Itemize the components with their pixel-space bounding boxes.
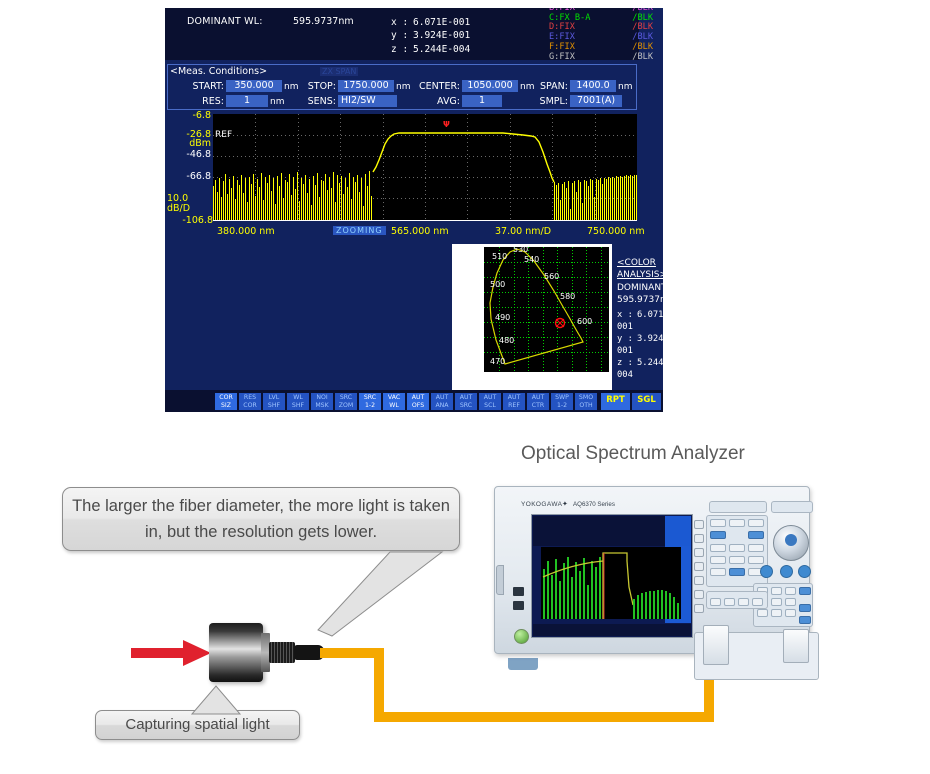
chroma-wl-580: 580: [560, 292, 575, 301]
optical-output-door[interactable]: [783, 629, 809, 663]
trace-mode-g: /BLK: [632, 53, 653, 63]
sens-label: SENS:: [292, 96, 336, 107]
avg-value[interactable]: 1: [462, 95, 502, 107]
y-axis-label-bottom: -106.8: [165, 215, 213, 226]
src-key-4[interactable]: [752, 598, 763, 606]
y-axis-label-3: -66.8: [167, 171, 211, 182]
spectrum-trace: [213, 114, 637, 220]
fiber-cable-segment-3: [374, 712, 714, 722]
smpl-value[interactable]: 7001(A): [570, 95, 622, 107]
status-vac-wl[interactable]: VACWL: [383, 393, 405, 410]
key-setup[interactable]: [710, 544, 726, 552]
status-src-zom[interactable]: SRCZOM: [335, 393, 357, 410]
cursor-down-button[interactable]: [780, 565, 793, 578]
span-unit: nm: [618, 82, 632, 92]
chroma-y-tick-1: 0.70: [452, 259, 482, 269]
status-aut-ofs[interactable]: AUTOFS: [407, 393, 429, 410]
chroma-y-tick-6: 0.20: [452, 334, 482, 344]
numkey-5[interactable]: [771, 598, 782, 606]
status-sgl-button[interactable]: SGL: [632, 393, 661, 410]
numkey-enter[interactable]: [799, 587, 811, 595]
chroma-y-tick-3: 0.50: [452, 289, 482, 299]
lcd-plot-area: [541, 547, 681, 619]
chroma-wl-490: 490: [495, 313, 510, 322]
status-aut-scl[interactable]: AUTSCL: [479, 393, 501, 410]
diagram-title: Optical Spectrum Analyzer: [521, 443, 745, 465]
trace-name-g: G:FIX: [549, 53, 575, 63]
key-print[interactable]: [729, 568, 745, 576]
status-rpt-button[interactable]: RPT: [601, 393, 630, 410]
fiber-connector-ferrule: [269, 642, 295, 663]
brand-mark-icon: ✦: [562, 500, 568, 508]
numkey-6[interactable]: [785, 598, 796, 606]
status-lvl-shf[interactable]: LVLSHF: [263, 393, 285, 410]
xyz-key-x: x :: [391, 16, 413, 29]
x-axis-line: [213, 220, 637, 221]
instrument-lcd: [531, 514, 693, 638]
ca-key-x: x :: [617, 309, 637, 321]
cursor-up-button[interactable]: [798, 565, 811, 578]
status-src-1-2[interactable]: SRC1-2: [359, 393, 381, 410]
source-panel[interactable]: [706, 591, 768, 609]
chroma-wl-480: 480: [499, 336, 514, 345]
x-axis-stop: 750.000 nm: [587, 226, 645, 237]
key-peak[interactable]: [748, 531, 764, 539]
key-sweep[interactable]: [710, 531, 726, 539]
chroma-y-tick-7: 0.10: [452, 349, 482, 359]
softkey-button-1[interactable]: [694, 520, 704, 529]
power-button[interactable]: [514, 629, 529, 644]
xyz-value-x: 6.071E-001: [413, 17, 470, 28]
xyz-value-z: 5.244E-004: [413, 44, 470, 55]
smpl-label: SMPL:: [520, 96, 568, 107]
x-axis-center: 565.000 nm: [391, 226, 449, 237]
chroma-x-tick-2: 0.30: [519, 375, 543, 385]
center-value[interactable]: 1050.000: [462, 80, 518, 92]
src-key-2[interactable]: [724, 598, 735, 606]
chroma-y-tick-4: 0.40: [452, 304, 482, 314]
ref-level-marker-text: REF: [215, 130, 232, 140]
chroma-wl-500: 500: [490, 280, 505, 289]
color-analysis-title: <COLOR ANALYSIS>: [617, 257, 663, 282]
key-marker[interactable]: [710, 556, 726, 564]
numkey-8[interactable]: [771, 587, 782, 595]
trace-status-list: B:FIX/BLK C:FX B-A/BLK D:FIX/BLK E:FIX/B…: [549, 8, 653, 62]
lcd-trace: [541, 547, 681, 619]
usb-port-upper[interactable]: [513, 587, 524, 596]
xyz-key-z: z :: [391, 43, 413, 56]
chroma-x-tick-4: 0.70: [577, 375, 601, 385]
src-key-1[interactable]: [710, 598, 721, 606]
softkey-button-3[interactable]: [694, 548, 704, 557]
panel-label-control: [771, 501, 813, 513]
avg-label: AVG:: [414, 96, 460, 107]
knob-minus-button[interactable]: [760, 565, 773, 578]
callout-tail: [300, 548, 470, 638]
instrument-chassis: YOKOGAWA ✦ AQ6370 Series: [494, 486, 810, 654]
status-res-cor[interactable]: RESCOR: [239, 393, 261, 410]
span-value[interactable]: 1400.0: [570, 80, 616, 92]
chroma-wl-470: 470: [490, 357, 505, 366]
key-display[interactable]: [729, 544, 745, 552]
numkey-2[interactable]: [771, 609, 782, 617]
status-aut-ref[interactable]: AUTREF: [503, 393, 525, 410]
numkey-clear[interactable]: [799, 616, 811, 624]
y-axis-label-top: -6.8: [167, 110, 211, 121]
fiber-cable-segment-2: [374, 648, 384, 722]
numkey-1[interactable]: [757, 609, 768, 617]
dominant-wl-value: 595.9737nm: [293, 16, 354, 27]
status-cor-siz[interactable]: CORSIZ: [215, 393, 237, 410]
y-axis-unit: dBm: [167, 138, 211, 149]
zoom-span-tag: ZX SPAN: [320, 67, 358, 76]
xyz-value-y: 3.924E-001: [413, 30, 470, 41]
incoming-light-arrow: [131, 638, 213, 668]
key-trace[interactable]: [748, 544, 764, 552]
xyz-readout: x :6.071E-001 y :3.924E-001 z :5.244E-00…: [391, 16, 470, 56]
instrument-foot-left: [508, 658, 538, 670]
status-smo-oth[interactable]: SMOOTH: [575, 393, 597, 410]
setup-keypad-panel[interactable]: [706, 515, 768, 587]
instrument-side-handle: [496, 565, 504, 595]
status-swp-1-2[interactable]: SWP1-2: [551, 393, 573, 410]
span-label: SPAN:: [524, 81, 568, 92]
x-axis-start: 380.000 nm: [217, 226, 275, 237]
softkey-button-5[interactable]: [694, 576, 704, 585]
meas-conditions-title: <Meas. Conditions>: [170, 66, 267, 77]
xyz-key-y: y :: [391, 29, 413, 42]
sens-value[interactable]: HI2/SW: [338, 95, 397, 107]
instrument-brand-label: YOKOGAWA: [521, 501, 562, 508]
chroma-wl-530: 530: [513, 245, 528, 254]
optical-input-door[interactable]: [703, 625, 729, 665]
knob-center-icon: [785, 534, 797, 546]
collimator-lens-body: [209, 623, 263, 682]
chroma-wl-540: 540: [524, 255, 539, 264]
softkey-button-4[interactable]: [694, 562, 704, 571]
ca-key-z: z :: [617, 357, 637, 369]
status-aut-ctr[interactable]: AUTCTR: [527, 393, 549, 410]
res-value[interactable]: 1: [226, 95, 268, 107]
res-unit: nm: [270, 97, 284, 107]
color-analysis-dominant-label: DOMINANT WL:: [617, 282, 663, 294]
explanation-callout: The larger the fiber diameter, the more …: [62, 487, 460, 551]
key-span[interactable]: [729, 519, 745, 527]
peak-marker-icon: Ψ: [443, 121, 450, 128]
src-key-3[interactable]: [738, 598, 749, 606]
chroma-wl-600: 600: [577, 317, 592, 326]
x-axis-perdiv: 37.00 nm/D: [495, 226, 551, 237]
color-analysis-readout: <COLOR ANALYSIS> DOMINANT WL: 595.9737nm…: [617, 257, 663, 381]
instrument-softkey-buttons[interactable]: [694, 520, 704, 628]
start-value[interactable]: 350.000: [226, 80, 282, 92]
scale-per-div-unit: dB/D: [167, 204, 190, 214]
cie-1931-chart[interactable]: 470 480 490 500 510 530 540 560 580 600: [484, 247, 609, 372]
chroma-x-tick-3: 0.50: [548, 375, 572, 385]
cie-horseshoe-locus: [484, 247, 609, 372]
osa-display-screen: DOMINANT WL: 595.9737nm x :6.071E-001 y …: [165, 8, 663, 412]
osa-instrument-photo: YOKOGAWA ✦ AQ6370 Series: [486, 480, 818, 670]
caption-pointer: [190, 680, 270, 716]
status-wl-shf[interactable]: WLSHF: [287, 393, 309, 410]
chroma-y-tick-0: 0.80: [452, 244, 482, 254]
numkey-9[interactable]: [785, 587, 796, 595]
stop-label: STOP:: [292, 81, 336, 92]
ca-key-y: y :: [617, 333, 637, 345]
spectrum-graph-plot[interactable]: [213, 114, 637, 220]
chroma-y-tick-2: 0.60: [452, 274, 482, 284]
status-aut-src[interactable]: AUTSRC: [455, 393, 477, 410]
status-noi-msk[interactable]: NOIMSK: [311, 393, 333, 410]
panel-label-setup: [709, 501, 767, 513]
start-label: START:: [174, 81, 224, 92]
zooming-indicator: ZOOMING: [333, 226, 386, 235]
optical-connector-bay: [694, 632, 819, 680]
chroma-wl-510: 510: [492, 252, 507, 261]
measurement-conditions-panel: <Meas. Conditions> ZX SPAN START: 350.00…: [167, 64, 637, 110]
softkey-button-7[interactable]: [694, 604, 704, 613]
chroma-y-tick-5: 0.30: [452, 319, 482, 329]
center-label: CENTER:: [402, 81, 460, 92]
key-level[interactable]: [748, 519, 764, 527]
stop-value[interactable]: 1750.000: [338, 80, 394, 92]
color-analysis-dominant-value: 595.9737nm: [617, 294, 663, 306]
softkey-button-2[interactable]: [694, 534, 704, 543]
instrument-model-label: AQ6370 Series: [573, 501, 615, 508]
lcd-status-strip: [533, 624, 691, 636]
key-system[interactable]: [748, 556, 764, 564]
numkey-3[interactable]: [785, 609, 796, 617]
chroma-wl-560: 560: [544, 272, 559, 281]
softkey-button-6[interactable]: [694, 590, 704, 599]
chromaticity-diagram-panel: 0.80 0.70 0.60 0.50 0.40 0.30 0.20 0.10 …: [452, 244, 612, 396]
status-bar: CORSIZ RESCOR LVLSHF WLSHF NOIMSK SRCZOM…: [165, 390, 663, 412]
key-center[interactable]: [710, 519, 726, 527]
key-file[interactable]: [710, 568, 726, 576]
usb-port-lower[interactable]: [513, 601, 524, 610]
res-label: RES:: [174, 96, 224, 107]
status-aut-ana[interactable]: AUTANA: [431, 393, 453, 410]
dominant-wl-label: DOMINANT WL:: [187, 16, 263, 27]
key-analysis[interactable]: [729, 556, 745, 564]
chroma-x-tick-1: 0.10: [490, 375, 514, 385]
y-axis-label-2: -46.8: [167, 149, 211, 160]
rotary-knob[interactable]: [773, 525, 809, 561]
numkey-backspace[interactable]: [799, 604, 811, 612]
